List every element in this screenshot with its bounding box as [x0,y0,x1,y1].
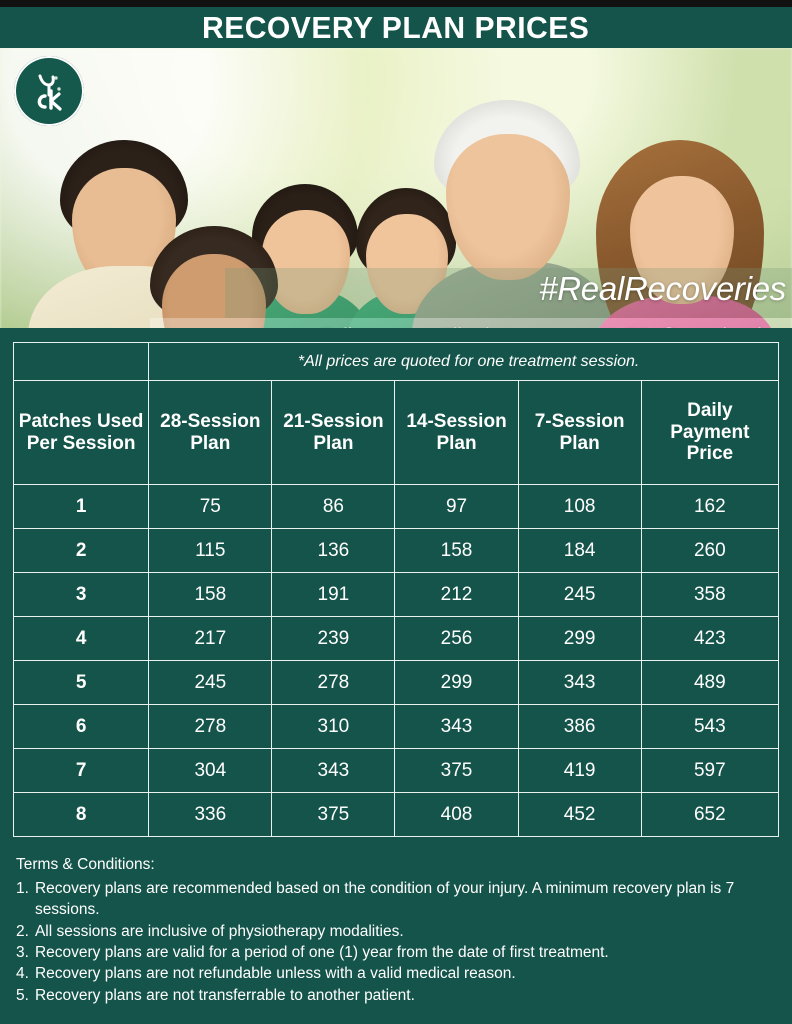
row-header-patches: 6 [14,705,149,749]
terms-item-text: Recovery plans are not refundable unless… [35,963,778,984]
terms-item-number: 1. [16,878,29,899]
terms-list: 1.Recovery plans are recommended based o… [16,878,778,1006]
terms-item-text: Recovery plans are not transferrable to … [35,985,778,1006]
price-cell-r1-c5: 162 [641,485,778,529]
price-cell-r7-c2: 343 [272,749,395,793]
price-cell-r8-c4: 452 [518,793,641,837]
column-header-4: 7-Session Plan [518,381,641,485]
price-cell-r4-c4: 299 [518,617,641,661]
table-note-row: *All prices are quoted for one treatment… [14,343,779,381]
terms-item-number: 2. [16,921,29,942]
row-header-patches: 8 [14,793,149,837]
price-cell-r3-c1: 158 [149,573,272,617]
price-cell-r1-c4: 108 [518,485,641,529]
price-cell-r1-c3: 97 [395,485,518,529]
title-bar: RECOVERY PLAN PRICES [0,7,792,48]
price-cell-r4-c2: 239 [272,617,395,661]
price-cell-r5-c4: 343 [518,661,641,705]
price-note: *All prices are quoted for one treatment… [149,343,779,381]
page-title: RECOVERY PLAN PRICES [202,12,589,43]
price-cell-r5-c2: 278 [272,661,395,705]
terms-item: 5.Recovery plans are not transferrable t… [16,985,778,1006]
price-cell-r3-c5: 358 [641,573,778,617]
row-header-patches: 7 [14,749,149,793]
terms-title: Terms & Conditions: [16,855,778,876]
price-cell-r2-c1: 115 [149,529,272,573]
price-cell-r2-c5: 260 [641,529,778,573]
row-header-patches: 2 [14,529,149,573]
column-header-1: 28-Session Plan [149,381,272,485]
price-cell-r2-c3: 158 [395,529,518,573]
poster: RECOVERY PLAN PRICES #RealRecoveries Fol… [0,0,792,1024]
price-cell-r5-c3: 299 [395,661,518,705]
table-row: 4217239256299423 [14,617,779,661]
price-cell-r7-c5: 597 [641,749,778,793]
price-table-wrapper: *All prices are quoted for one treatment… [13,342,779,837]
table-row: 8336375408452652 [14,793,779,837]
terms-item-number: 4. [16,963,29,984]
price-cell-r4-c3: 256 [395,617,518,661]
terms-item-text: Recovery plans are recommended based on … [35,878,778,921]
row-header-patches: 5 [14,661,149,705]
terms-item: 3.Recovery plans are valid for a period … [16,942,778,963]
table-row: 5245278299343489 [14,661,779,705]
price-cell-r6-c1: 278 [149,705,272,749]
price-cell-r4-c1: 217 [149,617,272,661]
price-cell-r2-c2: 136 [272,529,395,573]
price-cell-r6-c5: 543 [641,705,778,749]
hero-family-photo: #RealRecoveries Follow us on Tiktok, Ins… [0,48,792,333]
terms-item-number: 5. [16,985,29,1006]
terms-item-number: 3. [16,942,29,963]
terms-item-text: Recovery plans are valid for a period of… [35,942,778,963]
yck-monogram-icon [23,65,75,117]
price-cell-r3-c2: 191 [272,573,395,617]
table-row: 6278310343386543 [14,705,779,749]
price-cell-r8-c2: 375 [272,793,395,837]
terms-item-text: All sessions are inclusive of physiother… [35,921,778,942]
price-cell-r3-c4: 245 [518,573,641,617]
price-cell-r8-c1: 336 [149,793,272,837]
row-header-patches: 4 [14,617,149,661]
column-header-3: 14-Session Plan [395,381,518,485]
price-cell-r3-c3: 212 [395,573,518,617]
price-cell-r6-c2: 310 [272,705,395,749]
hero-bottom-rule [0,328,792,334]
table-row: 1758697108162 [14,485,779,529]
price-cell-r6-c4: 386 [518,705,641,749]
price-cell-r1-c1: 75 [149,485,272,529]
brand-logo [14,56,84,126]
hashtag-text: #RealRecoveries [539,270,786,308]
column-header-2: 21-Session Plan [272,381,395,485]
price-cell-r7-c3: 375 [395,749,518,793]
price-table: *All prices are quoted for one treatment… [13,342,779,837]
note-row-spacer [14,343,149,381]
column-header-5: Daily Payment Price [641,381,778,485]
top-black-strip [0,0,792,7]
price-cell-r1-c2: 86 [272,485,395,529]
price-cell-r7-c4: 419 [518,749,641,793]
price-cell-r6-c3: 343 [395,705,518,749]
table-row: 7304343375419597 [14,749,779,793]
price-cell-r5-c1: 245 [149,661,272,705]
price-cell-r8-c5: 652 [641,793,778,837]
terms-item: 4.Recovery plans are not refundable unle… [16,963,778,984]
terms-item: 2.All sessions are inclusive of physioth… [16,921,778,942]
terms-item: 1.Recovery plans are recommended based o… [16,878,778,921]
table-row: 2115136158184260 [14,529,779,573]
price-cell-r8-c3: 408 [395,793,518,837]
price-cell-r2-c4: 184 [518,529,641,573]
row-header-patches: 3 [14,573,149,617]
terms-and-conditions: Terms & Conditions: 1.Recovery plans are… [16,855,778,1006]
column-header-0: Patches Used Per Session [14,381,149,485]
table-header-row: Patches Used Per Session28-Session Plan2… [14,381,779,485]
table-row: 3158191212245358 [14,573,779,617]
price-cell-r4-c5: 423 [641,617,778,661]
row-header-patches: 1 [14,485,149,529]
price-cell-r5-c5: 489 [641,661,778,705]
price-cell-r7-c1: 304 [149,749,272,793]
